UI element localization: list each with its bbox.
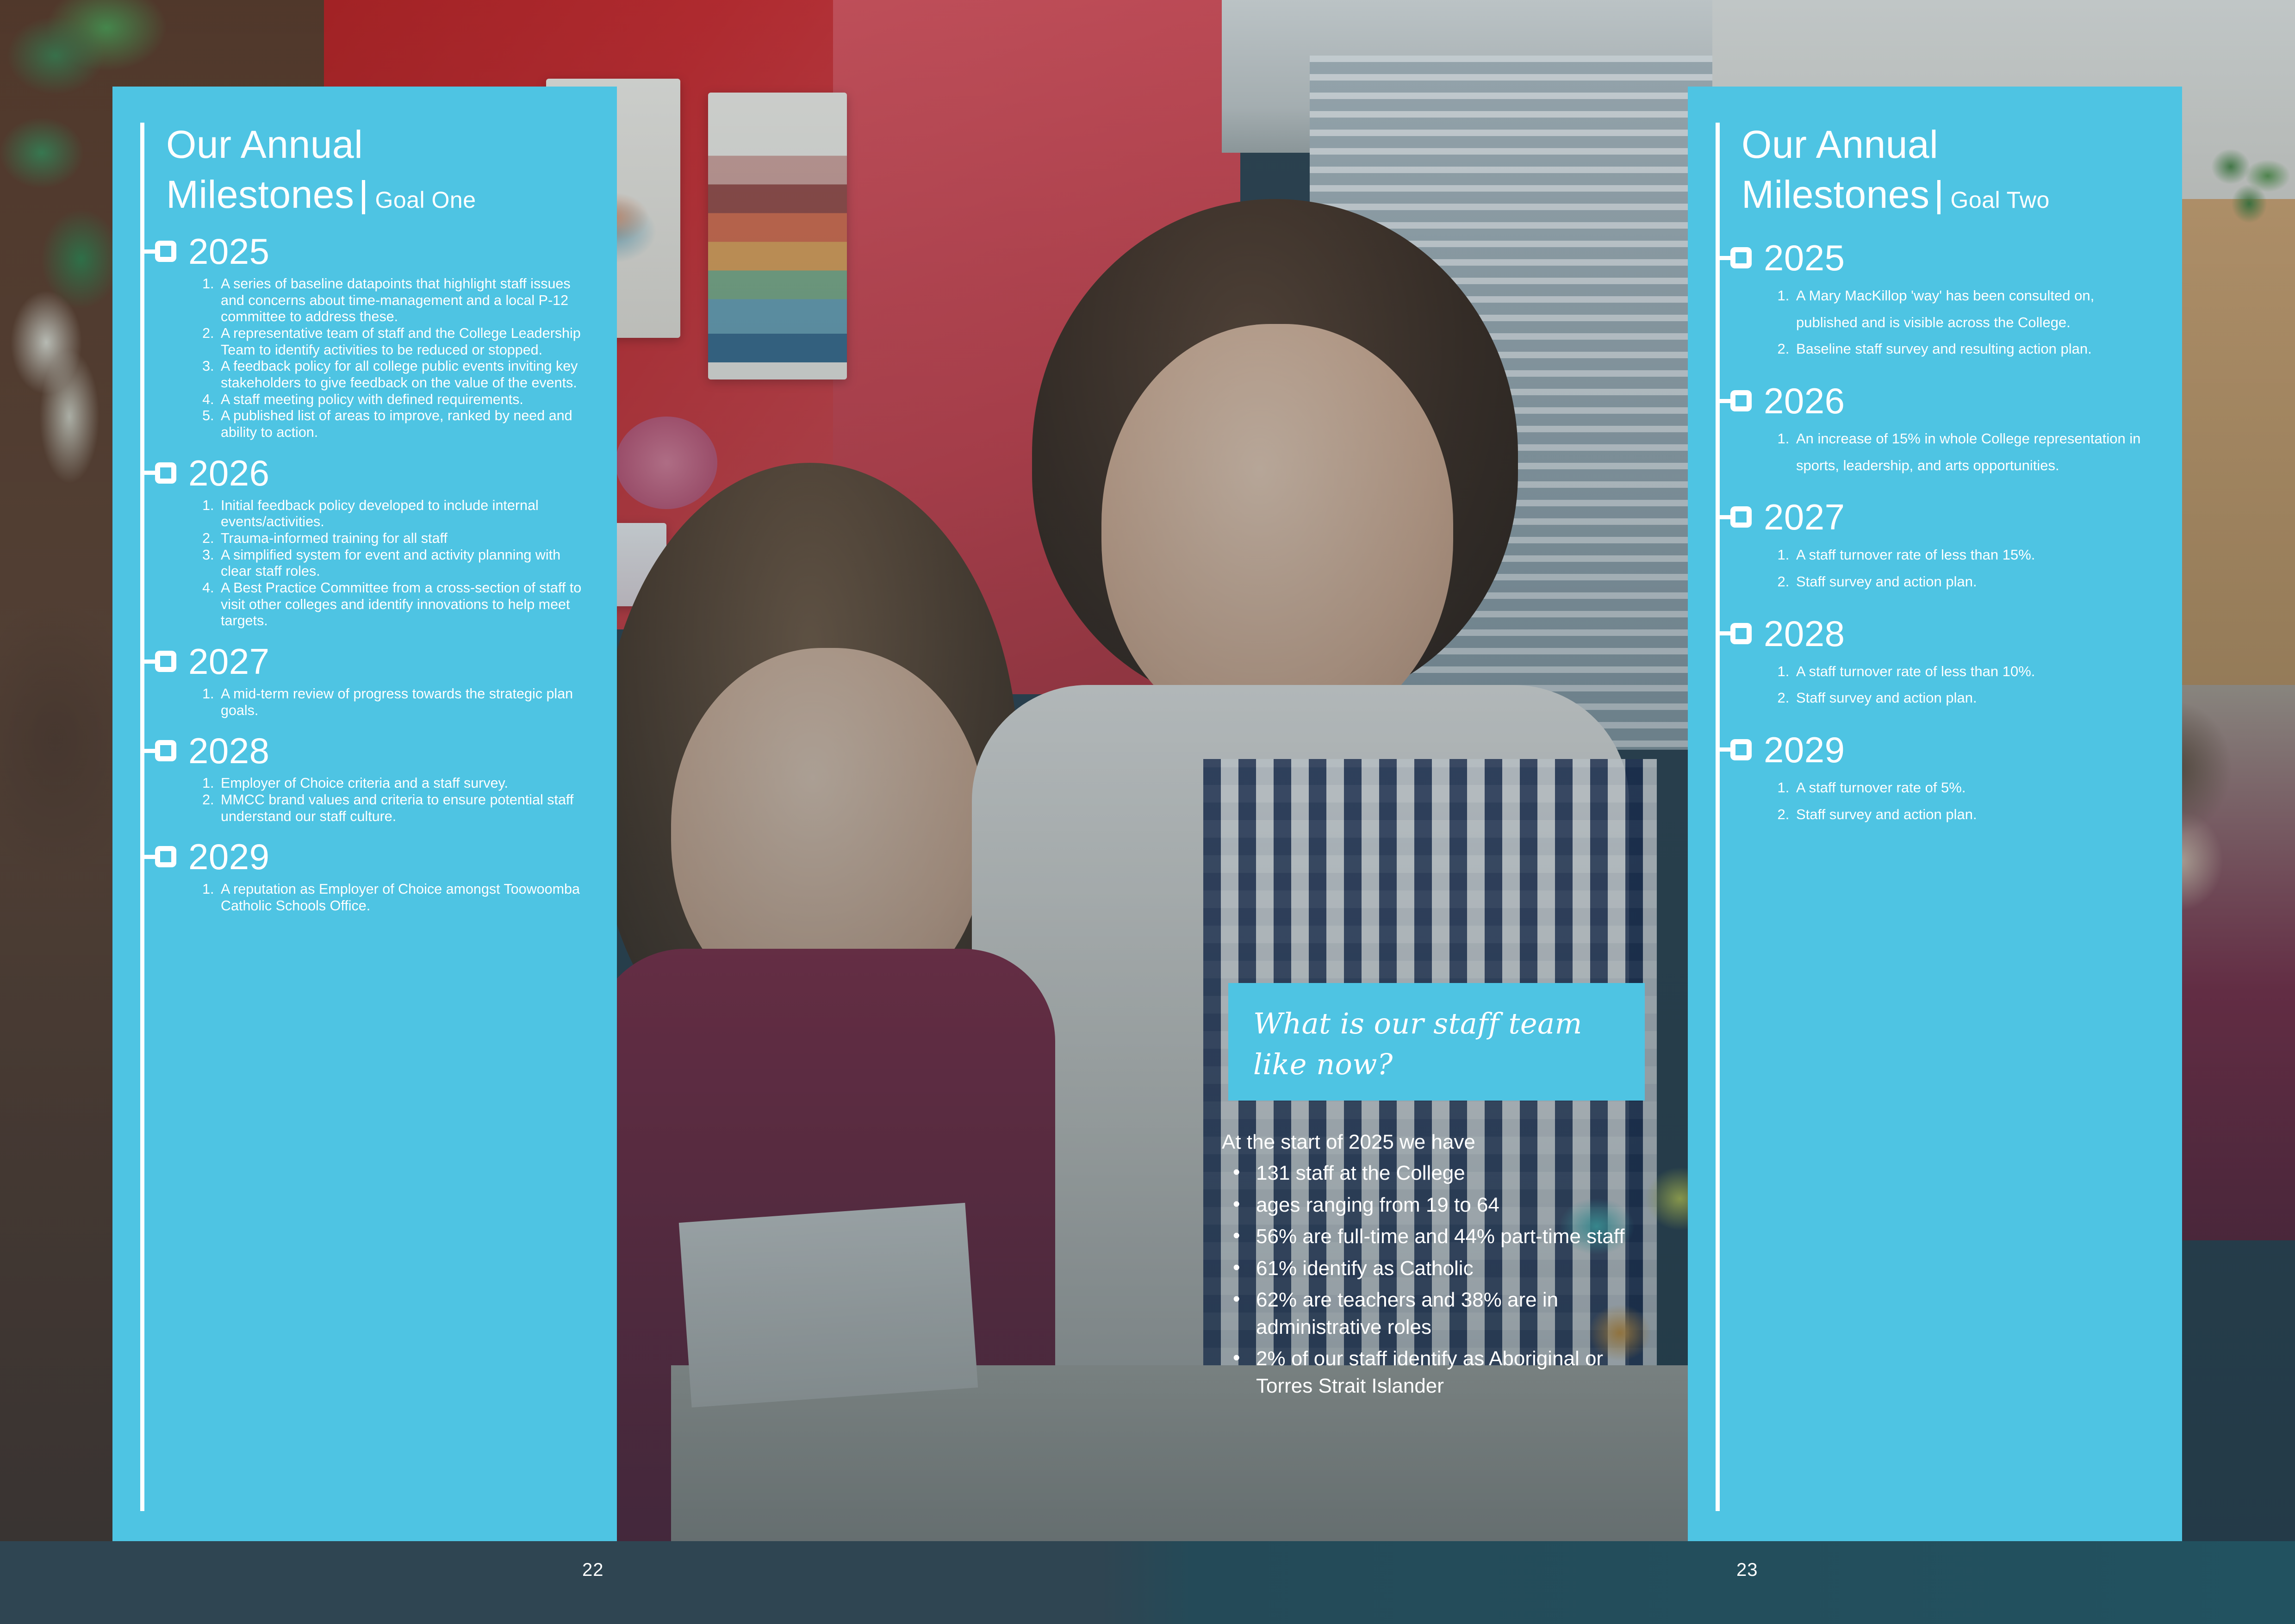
year-block-2027: 2027 A staff turnover rate of less than … <box>1741 499 2154 595</box>
list-item: A staff turnover rate of less than 10%. <box>1793 658 2154 685</box>
panel-title-line-2: Milestones <box>1741 170 1930 220</box>
list-item: 61% identify as Catholic <box>1222 1255 1657 1282</box>
page-number-right: 23 <box>1736 1560 1758 1580</box>
timeline-connector-icon <box>140 749 155 753</box>
timeline-node-icon <box>155 651 176 672</box>
list-item: 56% are full-time and 44% part-time staf… <box>1222 1223 1657 1251</box>
page-title-goal-one: Our Annual MilestonesGoal One <box>166 120 589 219</box>
year-marker-row: 2026 <box>140 455 589 491</box>
year-label: 2028 <box>1764 616 1845 652</box>
year-block-2028: 2028 Employer of Choice criteria and a s… <box>166 733 589 825</box>
list-item: MMCC brand values and criteria to ensure… <box>218 792 589 825</box>
panel-subtitle-goal-two: Goal Two <box>1951 187 2050 213</box>
list-item: A feedback policy for all college public… <box>218 358 589 391</box>
year-label: 2027 <box>1764 499 1845 535</box>
timeline-connector-icon <box>1716 399 1730 403</box>
list-item: Staff survey and action plan. <box>1793 568 2154 595</box>
list-item: A Mary MacKillop 'way' has been consulte… <box>1793 282 2154 336</box>
milestone-list: A mid-term review of progress towards th… <box>218 686 589 719</box>
timeline-node-icon <box>155 241 176 262</box>
list-item: Baseline staff survey and resulting acti… <box>1793 336 2154 362</box>
year-label: 2026 <box>1764 383 1845 419</box>
year-marker-row: 2026 <box>1716 383 2154 419</box>
timeline-connector-icon <box>1716 747 1730 752</box>
year-marker-row: 2029 <box>1716 732 2154 768</box>
timeline-connector-icon <box>1716 515 1730 519</box>
timeline-connector-icon <box>1716 256 1730 260</box>
milestone-list: A Mary MacKillop 'way' has been consulte… <box>1793 282 2154 362</box>
year-label: 2029 <box>1764 732 1845 768</box>
list-item: A reputation as Employer of Choice among… <box>218 881 589 914</box>
footer-band <box>0 1541 2295 1624</box>
year-block-2029: 2029 A staff turnover rate of 5%. Staff … <box>1741 732 2154 828</box>
timeline-node-icon <box>1730 623 1752 644</box>
list-item: A series of baseline datapoints that hig… <box>218 276 589 325</box>
list-item: A mid-term review of progress towards th… <box>218 686 589 719</box>
year-label: 2028 <box>188 733 270 769</box>
timeline-node-icon <box>1730 247 1752 268</box>
year-marker-row: 2028 <box>1716 616 2154 652</box>
milestone-list: A reputation as Employer of Choice among… <box>218 881 589 914</box>
timeline-node-icon <box>1730 506 1752 528</box>
list-item: 2% of our staff identify as Aboriginal o… <box>1222 1345 1657 1400</box>
panel-title-line-1: Our Annual <box>166 123 363 166</box>
staff-team-callout-box: What is our staff team like now? <box>1228 983 1645 1101</box>
year-block-2027: 2027 A mid-term review of progress towar… <box>166 643 589 719</box>
page-number-left: 22 <box>582 1560 604 1580</box>
title-divider <box>362 180 365 214</box>
list-item: A Best Practice Committee from a cross-s… <box>218 580 589 629</box>
year-label: 2025 <box>188 233 270 269</box>
list-item: Trauma-informed training for all staff <box>218 530 589 547</box>
list-item: A published list of areas to improve, ra… <box>218 408 589 441</box>
panel-title-line-2: Milestones <box>166 170 355 220</box>
page-title-goal-two: Our Annual MilestonesGoal Two <box>1741 120 2154 219</box>
year-label: 2029 <box>188 839 270 875</box>
year-marker-row: 2029 <box>140 839 589 875</box>
milestone-list: An increase of 15% in whole College repr… <box>1793 425 2154 479</box>
milestones-panel-goal-one: Our Annual MilestonesGoal One 2025 A ser… <box>112 87 617 1541</box>
year-label: 2025 <box>1764 240 1845 276</box>
milestone-list: A staff turnover rate of less than 15%. … <box>1793 541 2154 595</box>
list-item: ages ranging from 19 to 64 <box>1222 1192 1657 1219</box>
year-block-2028: 2028 A staff turnover rate of less than … <box>1741 616 2154 711</box>
timeline-axis-line <box>140 123 144 1511</box>
timeline-node-icon <box>155 740 176 761</box>
list-item: A simplified system for event and activi… <box>218 547 589 580</box>
list-item: 131 staff at the College <box>1222 1160 1657 1187</box>
year-block-2025: 2025 A series of baseline datapoints tha… <box>166 233 589 441</box>
milestone-list: A series of baseline datapoints that hig… <box>218 276 589 441</box>
staff-statistics-block: At the start of 2025 we have 131 staff a… <box>1222 1129 1657 1400</box>
callout-heading: What is our staff team like now? <box>1253 1003 1620 1085</box>
timeline-node-icon <box>1730 739 1752 760</box>
panel-title-line-1: Our Annual <box>1741 123 1938 166</box>
panel-subtitle-goal-one: Goal One <box>375 187 476 213</box>
timeline-connector-icon <box>1716 631 1730 635</box>
year-marker-row: 2028 <box>140 733 589 769</box>
milestone-list: Initial feedback policy developed to inc… <box>218 498 589 629</box>
list-item: A representative team of staff and the C… <box>218 325 589 358</box>
list-item: A staff turnover rate of less than 15%. <box>1793 541 2154 568</box>
year-block-2026: 2026 An increase of 15% in whole College… <box>1741 383 2154 479</box>
timeline-connector-icon <box>140 660 155 664</box>
list-item: Staff survey and action plan. <box>1793 801 2154 828</box>
milestone-list: A staff turnover rate of 5%. Staff surve… <box>1793 774 2154 828</box>
year-marker-row: 2027 <box>1716 499 2154 535</box>
year-label: 2026 <box>188 455 270 491</box>
list-item: A staff turnover rate of 5%. <box>1793 774 2154 801</box>
list-item: Staff survey and action plan. <box>1793 684 2154 711</box>
year-block-2026: 2026 Initial feedback policy developed t… <box>166 455 589 629</box>
year-marker-row: 2025 <box>1716 240 2154 276</box>
timeline-connector-icon <box>140 249 155 254</box>
timeline-connector-icon <box>140 855 155 859</box>
timeline-node-icon <box>155 846 176 867</box>
year-marker-row: 2025 <box>140 233 589 269</box>
year-block-2029: 2029 A reputation as Employer of Choice … <box>166 839 589 914</box>
milestone-list: Employer of Choice criteria and a staff … <box>218 775 589 825</box>
list-item: Employer of Choice criteria and a staff … <box>218 775 589 792</box>
timeline-node-icon <box>155 462 176 484</box>
milestones-panel-goal-two: Our Annual MilestonesGoal Two 2025 A Mar… <box>1688 87 2182 1541</box>
timeline-connector-icon <box>140 471 155 475</box>
statistics-intro-text: At the start of 2025 we have <box>1222 1129 1657 1155</box>
list-item: Initial feedback policy developed to inc… <box>218 498 589 530</box>
year-marker-row: 2027 <box>140 643 589 679</box>
list-item: A staff meeting policy with defined requ… <box>218 392 589 408</box>
timeline-axis-line <box>1716 123 1720 1511</box>
title-divider <box>1937 180 1940 214</box>
list-item: An increase of 15% in whole College repr… <box>1793 425 2154 479</box>
statistics-bullet-list: 131 staff at the College ages ranging fr… <box>1222 1160 1657 1400</box>
year-block-2025: 2025 A Mary MacKillop 'way' has been con… <box>1741 240 2154 362</box>
year-label: 2027 <box>188 643 270 679</box>
list-item: 62% are teachers and 38% are in administ… <box>1222 1287 1657 1341</box>
milestone-list: A staff turnover rate of less than 10%. … <box>1793 658 2154 711</box>
timeline-node-icon <box>1730 390 1752 411</box>
